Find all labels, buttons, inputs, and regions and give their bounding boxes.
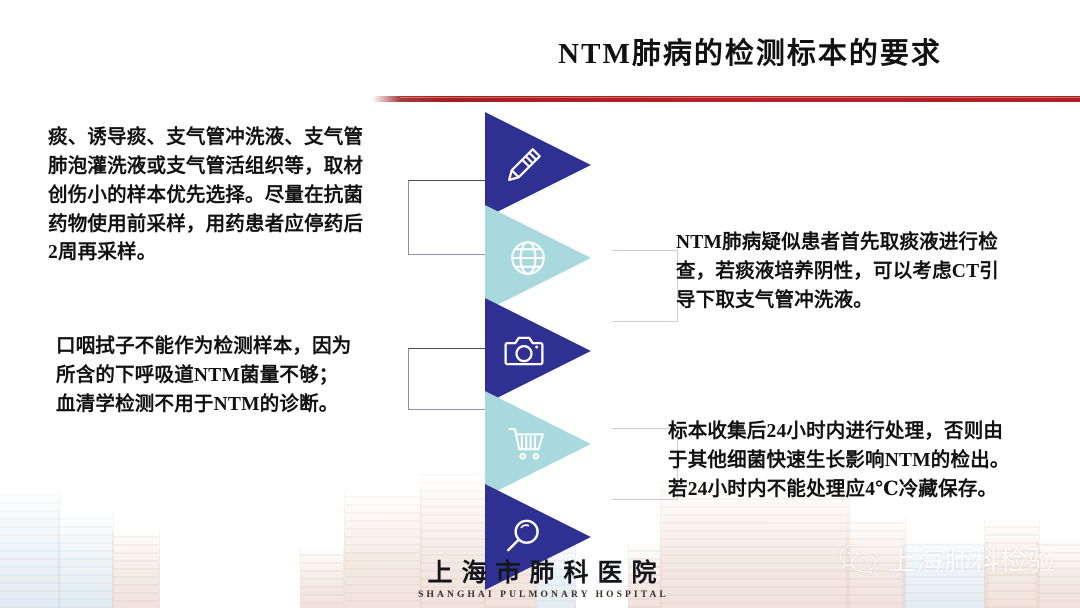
camera-icon [503,330,545,372]
globe-icon [507,237,549,279]
chevron-step-1[interactable] [485,112,591,218]
wechat-icon [838,543,878,575]
cart-icon [507,423,549,465]
chevron-step-3[interactable] [485,298,591,404]
hospital-logo-cn: 上海市肺科医院 [392,553,692,589]
chevron-step-2[interactable] [485,205,591,311]
watermark-text: 上海肺科检验 [888,539,1056,578]
slide-canvas: NTM肺病的检测标本的要求 [0,0,1080,608]
text-block-right-1: NTM肺病疑似患者首先取痰液进行检 查，若痰液培养阴性，可以考虑CT引 导下取支… [676,229,1076,316]
text-block-left-1: 痰、诱导痰、支气管冲洗液、支气管 肺泡灌洗液或支气管活组织等，取材 创伤小的样本… [48,124,428,268]
text-block-right-2: 标本收集后24小时内进行处理，否则由 于其他细菌快速生长影响NTM的检出。 若2… [668,418,1080,505]
pencil-icon [503,144,545,186]
chevron-step-4[interactable] [485,391,591,497]
text-block-left-2: 口咽拭子不能作为检测样本，因为 所含的下呼吸道NTM菌量不够； 血清学检测不用于… [56,333,426,420]
magnifier-icon [503,516,545,558]
hospital-logo-en: SHANGHAI PULMONARY HOSPITAL [392,590,692,600]
hospital-logo: 上海市肺科医院 SHANGHAI PULMONARY HOSPITAL [392,553,692,600]
watermark: 上海肺科检验 [838,539,1056,578]
